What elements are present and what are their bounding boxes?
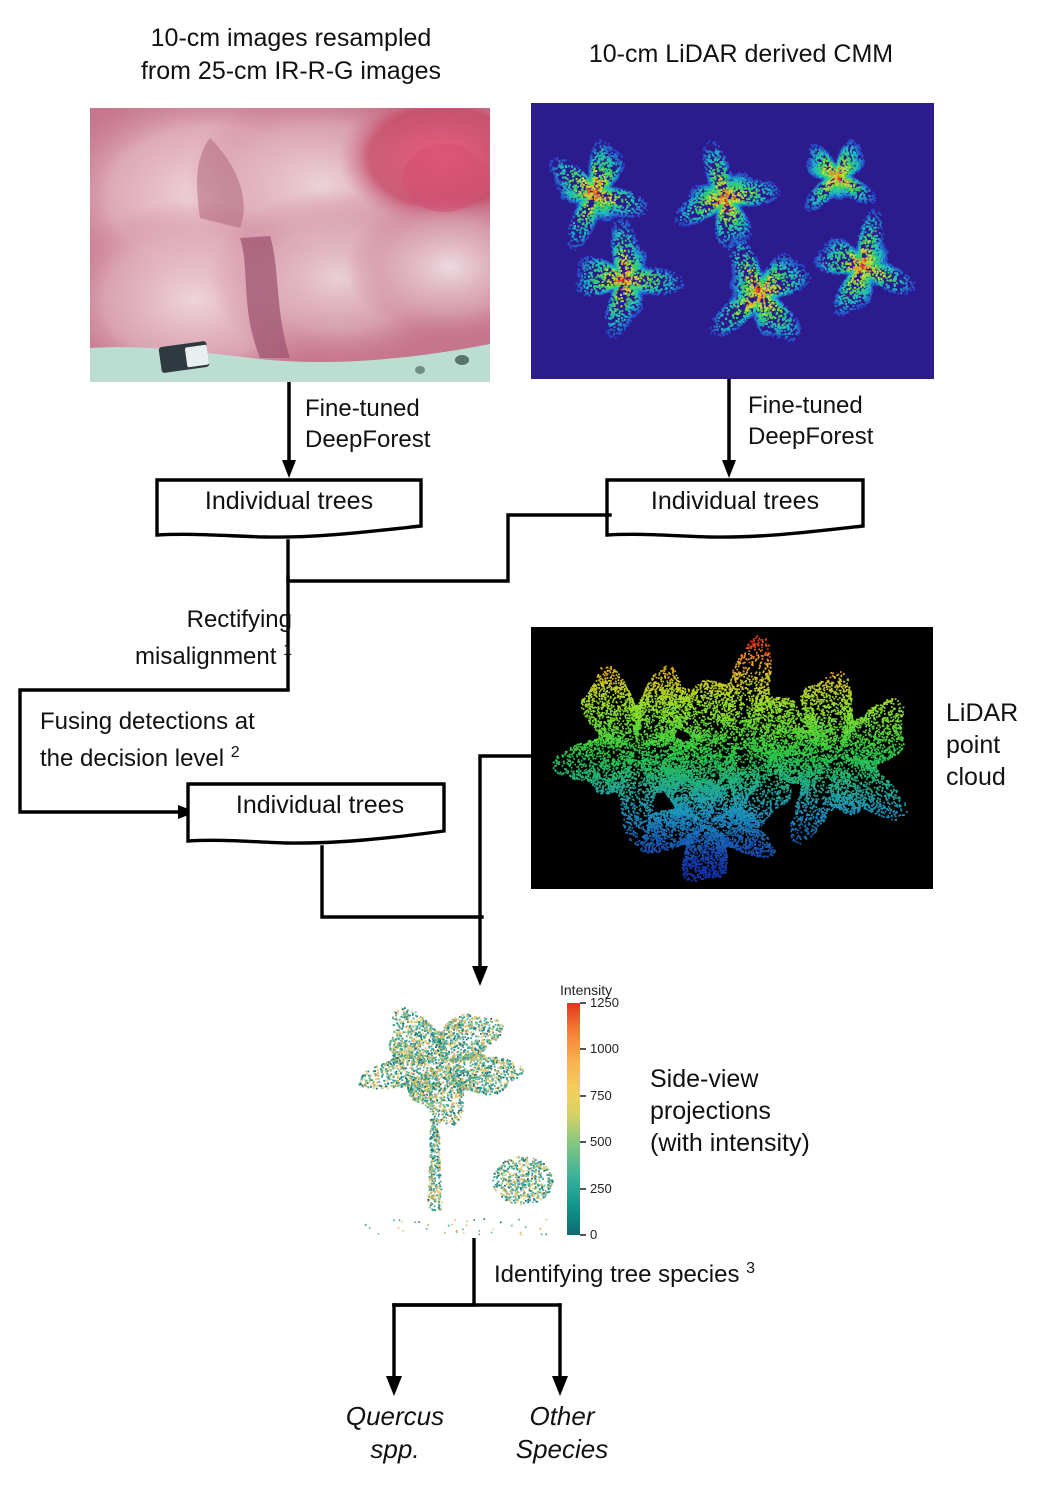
colorbar-tick-mark [580, 1095, 586, 1097]
heading-left-imagery: 10-cm images resampled from 25-cm IR-R-G… [86, 22, 496, 88]
footnote-1: 1 [283, 642, 292, 659]
outcome-other-species: Other Species [492, 1400, 632, 1466]
connector-fused-box-to-junction [310, 845, 490, 945]
side-view-projection-image [350, 990, 570, 1240]
lidar-point-cloud-image [531, 627, 933, 889]
edge-label-fusing: Fusing detections at the decision level … [40, 706, 330, 774]
edge-label-finetuned-left: Fine-tuned DeepForest [305, 393, 495, 455]
connector-species-split [380, 1300, 590, 1400]
connector-sideview-to-species [466, 1238, 486, 1308]
colorbar-tick-label: 750 [590, 1088, 612, 1103]
box-individual-trees-fused[interactable]: Individual trees [186, 782, 454, 854]
edge-label-rectifying: Rectifying misalignment 1 [112, 604, 292, 672]
connector-right-trees-to-merge [280, 505, 620, 600]
edge-label-finetuned-right: Fine-tuned DeepForest [748, 390, 948, 452]
colorbar-tick-mark [580, 1234, 586, 1236]
figure-canvas: 10-cm images resampled from 25-cm IR-R-G… [0, 0, 1050, 1500]
colorbar-tick-label: 250 [590, 1181, 612, 1196]
colorbar-tick-mark [580, 1002, 586, 1004]
colorbar-tick-mark [580, 1048, 586, 1050]
colorbar-tick-mark [580, 1188, 586, 1190]
box-individual-trees-right[interactable]: Individual trees [605, 478, 865, 548]
colorbar-gradient [567, 1003, 580, 1235]
colorbar-tick-label: 500 [590, 1134, 612, 1149]
edge-label-identifying: Identifying tree species 3 [494, 1253, 824, 1290]
footnote-3: 3 [746, 1260, 755, 1277]
colorbar-tick-label: 1250 [590, 995, 619, 1010]
label-side-view: Side-view projections (with intensity) [650, 1063, 890, 1159]
outcome-quercus: Quercus spp. [325, 1400, 465, 1466]
arrow-aerial-to-trees [280, 382, 306, 480]
colorbar-tick-label: 0 [590, 1227, 597, 1242]
heading-right-cmm: 10-cm LiDAR derived CMM [540, 38, 942, 71]
lidar-cmm-image [531, 103, 934, 379]
aerial-irrg-image [90, 108, 490, 382]
colorbar-tick-mark [580, 1141, 586, 1143]
footnote-2: 2 [231, 744, 240, 761]
colorbar-tick-label: 1000 [590, 1041, 619, 1056]
arrow-cmm-to-trees [720, 379, 746, 480]
label-lidar-point-cloud: LiDAR point cloud [946, 697, 1050, 793]
